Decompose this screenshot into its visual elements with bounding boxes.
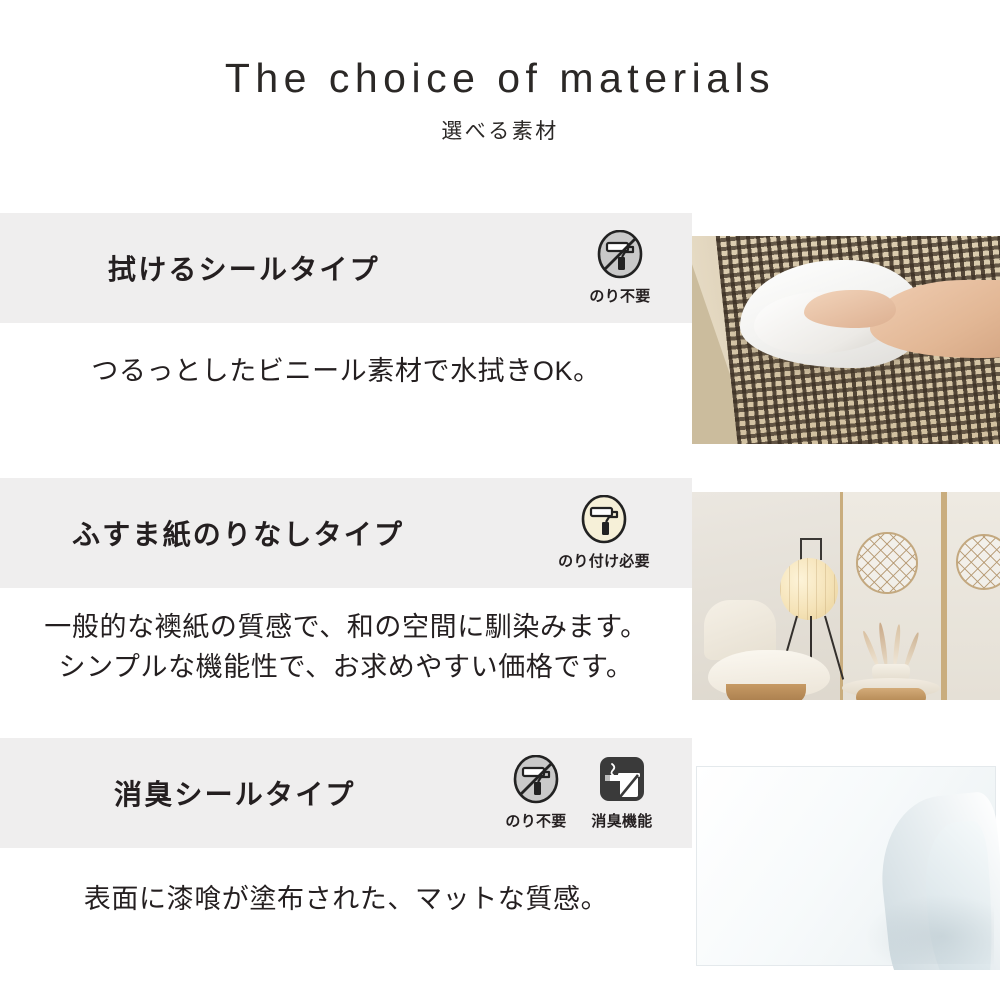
badge-glue-required: のり付け必要 xyxy=(544,495,664,571)
badge-no-glue: のり不要 xyxy=(584,230,656,306)
section-2-band: ふすま紙のりなしタイプ のり付け必要 xyxy=(0,478,692,588)
deodorize-icon xyxy=(596,755,648,807)
side-table-base xyxy=(856,688,926,700)
section-2-description: 一般的な襖紙の質感で、和の空間に馴染みます。 シンプルな機能性で、お求めやすい価… xyxy=(0,608,692,688)
badge-deodorize-label: 消臭機能 xyxy=(591,810,652,831)
section-2-title: ふすま紙のりなしタイプ xyxy=(72,513,404,553)
sheet-shadow xyxy=(864,894,994,964)
lantern-ribs xyxy=(780,558,838,620)
section-1-description: つるっとしたビニール素材で水拭きOK。 xyxy=(0,352,692,392)
page-subtitle: 選べる素材 xyxy=(441,121,559,142)
glue-required-icon xyxy=(578,495,630,547)
no-glue-icon xyxy=(594,230,646,282)
section-3-title: 消臭シールタイプ xyxy=(114,773,356,813)
section-1-description-line: つるっとしたビニール素材で水拭きOK。 xyxy=(0,352,692,392)
fingers xyxy=(804,290,896,328)
section-2-badges: のり付け必要 xyxy=(544,495,664,571)
photo-wiping-towel xyxy=(692,236,1000,444)
photo-japanese-interior xyxy=(692,492,1000,700)
lattice-circle-left xyxy=(856,532,918,594)
badge-glue-required-label: のり付け必要 xyxy=(558,550,650,571)
armchair-base xyxy=(726,684,806,700)
section-3-badges: のり不要 消臭機能 xyxy=(500,755,658,831)
section-1-title: 拭けるシールタイプ xyxy=(108,248,380,288)
paper-lantern xyxy=(780,558,838,620)
section-2-description-line-2: シンプルな機能性で、お求めやすい価格です。 xyxy=(0,648,692,688)
photo-white-curled-sheet xyxy=(692,762,1000,970)
section-1-band: 拭けるシールタイプ のり不要 xyxy=(0,213,692,323)
badge-deodorize: 消臭機能 xyxy=(586,755,658,831)
no-glue-icon xyxy=(510,755,562,807)
page-title: The choice of materials xyxy=(225,58,775,99)
section-3-band: 消臭シールタイプ のり不要 xyxy=(0,738,692,848)
lantern-frame-top xyxy=(800,538,822,560)
section-2-description-line-1: 一般的な襖紙の質感で、和の空間に馴染みます。 xyxy=(0,608,692,648)
badge-no-glue-label: のり不要 xyxy=(505,810,566,831)
badge-no-glue: のり不要 xyxy=(500,755,572,831)
badge-no-glue-label: のり不要 xyxy=(589,285,650,306)
fusuma-panel-right xyxy=(944,492,1000,700)
section-1-badges: のり不要 xyxy=(584,230,656,306)
section-3-description: 表面に漆喰が塗布された、マットな質感。 xyxy=(0,880,692,920)
page-header: The choice of materials 選べる素材 xyxy=(0,0,1000,205)
section-3-description-line: 表面に漆喰が塗布された、マットな質感。 xyxy=(0,880,692,920)
